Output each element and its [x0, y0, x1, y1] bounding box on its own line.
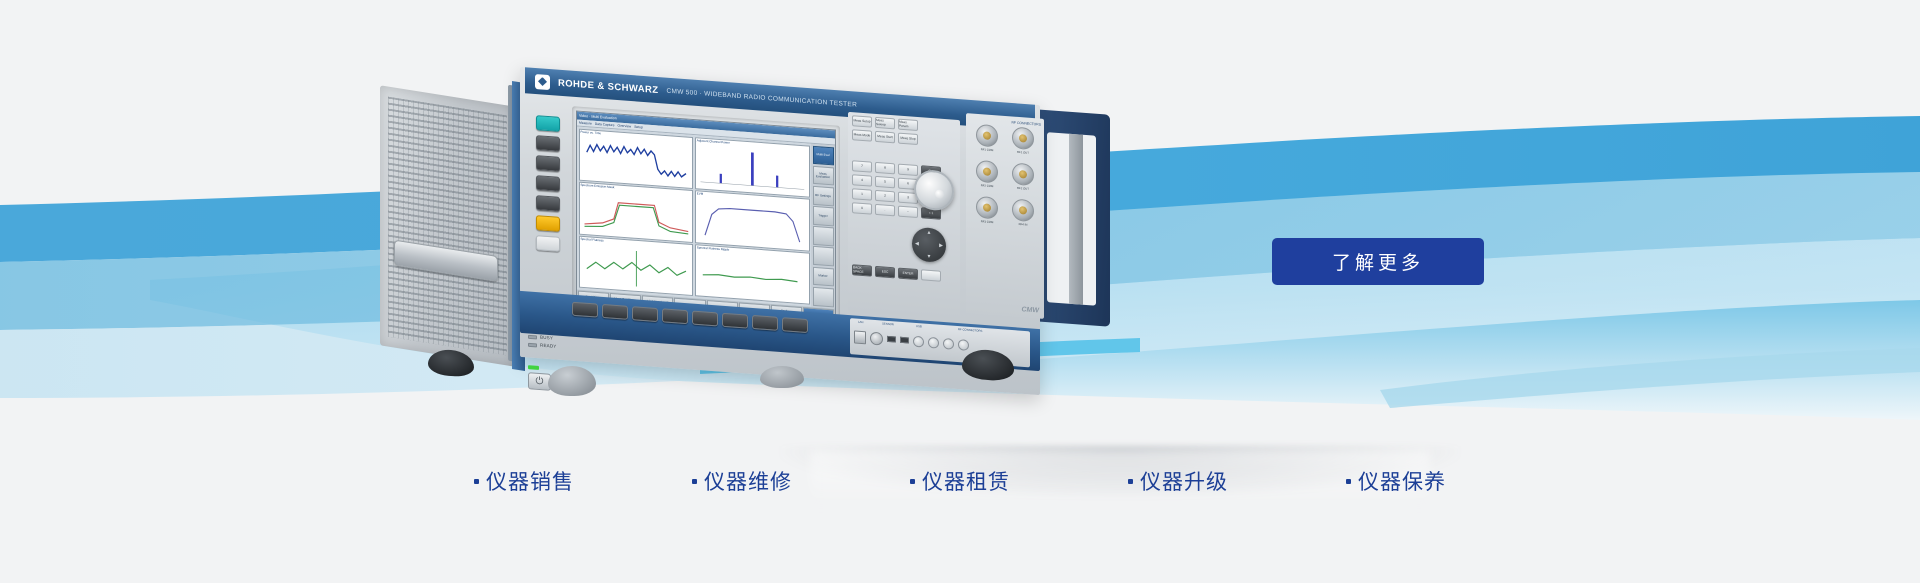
lan-label: LAN [858, 320, 863, 324]
bullet-icon [1346, 479, 1351, 484]
front-softkey-3[interactable] [632, 306, 658, 322]
save-recall-button[interactable] [536, 155, 560, 172]
menu-item-measure[interactable]: Measure [579, 121, 592, 126]
softkey-multi-eval[interactable]: Multi Eval [813, 145, 834, 165]
softkey-meas-evaluation[interactable]: Meas Evaluation [813, 166, 834, 186]
usb-port-1[interactable] [887, 336, 896, 343]
key-2[interactable]: 2 [875, 190, 895, 202]
link-instrument-sales[interactable]: 仪器销售 [474, 466, 574, 496]
link-instrument-repair[interactable]: 仪器维修 [692, 466, 792, 496]
rf3-com-label: RF3 COM [976, 219, 998, 225]
key-meas-start[interactable]: Meas Start [875, 131, 895, 143]
reset-button[interactable] [536, 115, 560, 132]
chart-evm: EVM [695, 191, 810, 252]
keypad-panel: Meas Setup Meas Sweep Meas Param Meas Mo… [848, 112, 960, 320]
key-0[interactable]: 0 [852, 202, 872, 214]
dpad-down-icon[interactable]: ▼ [927, 254, 932, 260]
function-button-column [530, 111, 566, 314]
rf-connector-row-2: RF2 COM RF2 OUT [969, 159, 1041, 191]
key-esc[interactable]: ESC [875, 266, 895, 278]
key-meas-param[interactable]: Meas Param [898, 119, 918, 131]
measurement-chart-grid: Power vs. Time Adjacent Channel Power [577, 127, 811, 307]
rf1-out-label: RF1 OUT [1012, 150, 1034, 156]
chart-adjacent-channel-power: Adjacent Channel Power [695, 137, 810, 198]
brand-name: ROHDE & SCHWARZ [558, 77, 658, 95]
setup-button[interactable] [536, 175, 560, 192]
rf-io-label: RF CONNECTORS [958, 327, 982, 333]
print-button[interactable] [536, 195, 560, 212]
link-instrument-upgrade[interactable]: 仪器升级 [1128, 466, 1228, 496]
rf2-out-label: RF2 OUT [1012, 186, 1034, 192]
rohde-schwarz-logo-icon [535, 74, 550, 90]
front-softkey-6[interactable] [722, 313, 748, 329]
chart-plot [696, 248, 809, 304]
link-label: 仪器租赁 [922, 466, 1010, 496]
chart-spectrum-emission-mask: Spectrum Emission Mask [579, 182, 694, 243]
rf-connector-panel: RF CONNECTORS RF1 COM RF1 OUT RF2 COM [966, 113, 1044, 319]
softkey-rf-settings[interactable]: RF Settings [813, 186, 834, 206]
front-softkey-2[interactable] [602, 304, 628, 320]
key-meas-mode[interactable]: Meas Mode [852, 129, 872, 141]
front-softkey-8[interactable] [782, 317, 808, 333]
rf4-in-connector[interactable] [1012, 199, 1034, 223]
handle-bar [1069, 134, 1083, 305]
key-5[interactable]: 5 [875, 176, 895, 188]
chart-plot [580, 132, 693, 188]
busy-led-icon [528, 334, 537, 339]
navigation-dpad[interactable]: ▲ ▼ ◀ ▶ [912, 227, 946, 263]
link-label: 仪器销售 [486, 466, 574, 496]
key-4[interactable]: 4 [852, 174, 872, 186]
help-button[interactable] [536, 215, 560, 232]
usb-port-2[interactable] [900, 337, 909, 344]
rf2-com-label: RF2 COM [976, 183, 998, 189]
key-9[interactable]: 9 [898, 164, 918, 176]
menu-item-overview[interactable]: Overview [617, 123, 631, 128]
instrument-display[interactable]: Video · Multi Evaluation Measure Data Ca… [576, 110, 836, 321]
chart-spectral-flatness: Spectral Flatness [579, 236, 694, 297]
usb-label: USB [916, 324, 922, 328]
carrying-handle-right [1035, 109, 1110, 327]
rf4-in-label: RF4 IN [1012, 222, 1034, 228]
sensor-label: SENSOR [882, 321, 894, 326]
key-meas-sweep[interactable]: Meas Sweep [875, 117, 895, 129]
key-8[interactable]: 8 [875, 162, 895, 174]
sensor-port[interactable] [870, 331, 883, 345]
rf2-out-port[interactable] [958, 339, 969, 351]
hero-banner: ROHDE & SCHWARZ CMW 500 · WIDEBAND RADIO… [0, 0, 1920, 583]
front-softkey-4[interactable] [662, 308, 688, 324]
rf1-com-label: RF1 COM [976, 147, 998, 153]
rf2-out-connector[interactable] [1012, 163, 1034, 187]
rf-connector-row-1: RF1 COM RF1 OUT [969, 123, 1041, 155]
menu-item-setup[interactable]: Setup [634, 125, 643, 130]
display-body: Power vs. Time Adjacent Channel Power [577, 127, 835, 309]
instrument-foot-front-left [548, 366, 596, 396]
bullet-icon [910, 479, 915, 484]
display-bezel: Video · Multi Evaluation Measure Data Ca… [572, 106, 840, 326]
chart-spectral-flatness-ripple: Spectral Flatness Ripple [695, 244, 810, 305]
cmw-corner-mark: CMW [1022, 306, 1040, 314]
key-spare[interactable] [921, 269, 941, 281]
menu-item-capture[interactable]: Data Capture [595, 122, 615, 127]
key-1[interactable]: 1 [852, 188, 872, 200]
softkey-blank-2[interactable] [813, 246, 834, 266]
key-meas-stop[interactable]: Meas Stop [898, 133, 918, 145]
rf2-com-connector[interactable] [976, 160, 998, 184]
key-minus[interactable]: − [898, 206, 918, 218]
menu-button[interactable] [536, 135, 560, 152]
dpad-right-icon[interactable]: ▶ [939, 243, 943, 249]
front-softkey-5[interactable] [692, 311, 718, 327]
rf1-out-connector[interactable] [1012, 127, 1034, 151]
softkey-blank-1[interactable] [813, 226, 834, 246]
dpad-left-icon[interactable]: ◀ [915, 241, 919, 247]
key-meas-setup[interactable]: Meas Setup [852, 115, 872, 127]
key-dot[interactable]: . [875, 204, 895, 216]
sys-button[interactable] [536, 235, 560, 252]
link-label: 仪器保养 [1358, 466, 1446, 496]
rf2-in-port[interactable] [928, 336, 939, 348]
chart-power-vs-time: Power vs. Time [579, 128, 694, 189]
key-backspace[interactable]: BACK SPACE [852, 264, 872, 276]
edit-key-row: BACK SPACE ESC ENTER [852, 264, 941, 282]
busy-led-label: BUSY [540, 335, 553, 341]
bullet-icon [1128, 479, 1133, 484]
chart-plot [696, 195, 809, 251]
learn-more-button[interactable]: 了解更多 [1272, 238, 1484, 285]
ready-led-icon [528, 342, 537, 347]
service-link-row: 仪器销售 仪器维修 仪器租赁 仪器升级 仪器保养 [0, 466, 1920, 496]
link-instrument-maintenance[interactable]: 仪器保养 [1346, 466, 1446, 496]
link-label: 仪器维修 [704, 466, 792, 496]
rf-connector-row-3: RF3 COM RF4 IN [969, 195, 1041, 227]
chart-label: EVM [697, 192, 704, 196]
instrument-foot-front-mid [760, 366, 804, 388]
key-enter[interactable]: ENTER [898, 268, 918, 280]
softkey-trigger[interactable]: Trigger [813, 206, 834, 226]
model-name: CMW 500 · WIDEBAND RADIO COMMUNICATION T… [666, 87, 857, 108]
chart-plot [580, 240, 693, 296]
display-softkey-column: Multi Eval Meas Evaluation RF Settings T… [811, 144, 835, 309]
bullet-icon [692, 479, 697, 484]
softkey-blank-3[interactable] [813, 287, 834, 307]
measurement-key-grid: Meas Setup Meas Sweep Meas Param Meas Mo… [852, 115, 918, 145]
dpad-up-icon[interactable]: ▲ [927, 230, 932, 236]
link-label: 仪器升级 [1140, 466, 1228, 496]
chart-plot [580, 186, 693, 242]
power-led-icon [528, 365, 539, 370]
lan-port[interactable] [854, 330, 866, 344]
rf3-com-connector[interactable] [976, 196, 998, 220]
rf1-out-port[interactable] [943, 337, 954, 349]
rf1-com-connector[interactable] [976, 124, 998, 148]
instrument-photo: ROHDE & SCHWARZ CMW 500 · WIDEBAND RADIO… [380, 78, 1110, 378]
rf1-in-port[interactable] [913, 335, 924, 347]
side-handle [394, 240, 498, 282]
front-softkey-7[interactable] [752, 315, 778, 331]
power-area: ⏻ [528, 365, 551, 391]
softkey-marker[interactable]: Marker [813, 266, 834, 286]
key-7[interactable]: 7 [852, 160, 872, 172]
chart-plot [696, 141, 809, 197]
ventilation-panel [380, 85, 515, 366]
front-softkey-1[interactable] [572, 302, 598, 318]
bullet-icon [474, 479, 479, 484]
link-instrument-rental[interactable]: 仪器租赁 [910, 466, 1010, 496]
